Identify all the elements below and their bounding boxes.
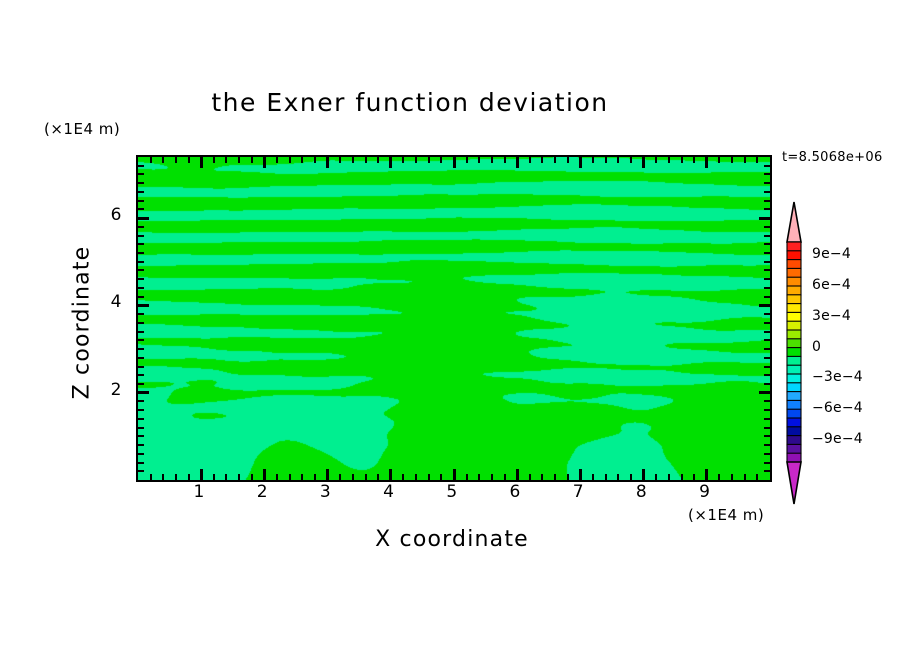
x-tick-label: 2: [247, 482, 277, 502]
x-tick-label: 4: [374, 482, 404, 502]
y-tick-label: 2: [96, 380, 122, 400]
colorbar-tick-label: 3e−4: [812, 308, 851, 324]
colorbar-tick-label: 9e−4: [812, 246, 851, 262]
colorbar: [781, 200, 807, 500]
colorbar-gradient: [781, 200, 807, 508]
y-axis-unit-label: (×1E4 m): [44, 120, 120, 138]
x-axis-title: X coordinate: [136, 527, 768, 552]
x-tick-label: 6: [500, 482, 530, 502]
x-tick-label: 7: [563, 482, 593, 502]
x-tick-label: 3: [311, 482, 341, 502]
colorbar-tick-label: 0: [812, 339, 821, 355]
exner-deviation-field: [138, 157, 770, 480]
y-tick-label: 4: [96, 292, 122, 312]
x-tick-label: 5: [437, 482, 467, 502]
colorbar-tick-label: −3e−4: [812, 369, 863, 385]
contour-plot-area: [136, 155, 772, 482]
timestamp-annotation: t=8.5068e+06: [782, 150, 883, 165]
x-axis-unit-label: (×1E4 m): [688, 506, 764, 524]
colorbar-tick-label: −9e−4: [812, 431, 863, 447]
x-tick-label: 9: [690, 482, 720, 502]
x-tick-label: 8: [627, 482, 657, 502]
page-title: the Exner function deviation: [0, 88, 820, 117]
y-tick-label: 6: [96, 205, 122, 225]
y-axis-title: Z coordinate: [70, 203, 95, 443]
colorbar-tick-label: 6e−4: [812, 277, 851, 293]
x-tick-label: 1: [184, 482, 214, 502]
colorbar-tick-label: −6e−4: [812, 400, 863, 416]
